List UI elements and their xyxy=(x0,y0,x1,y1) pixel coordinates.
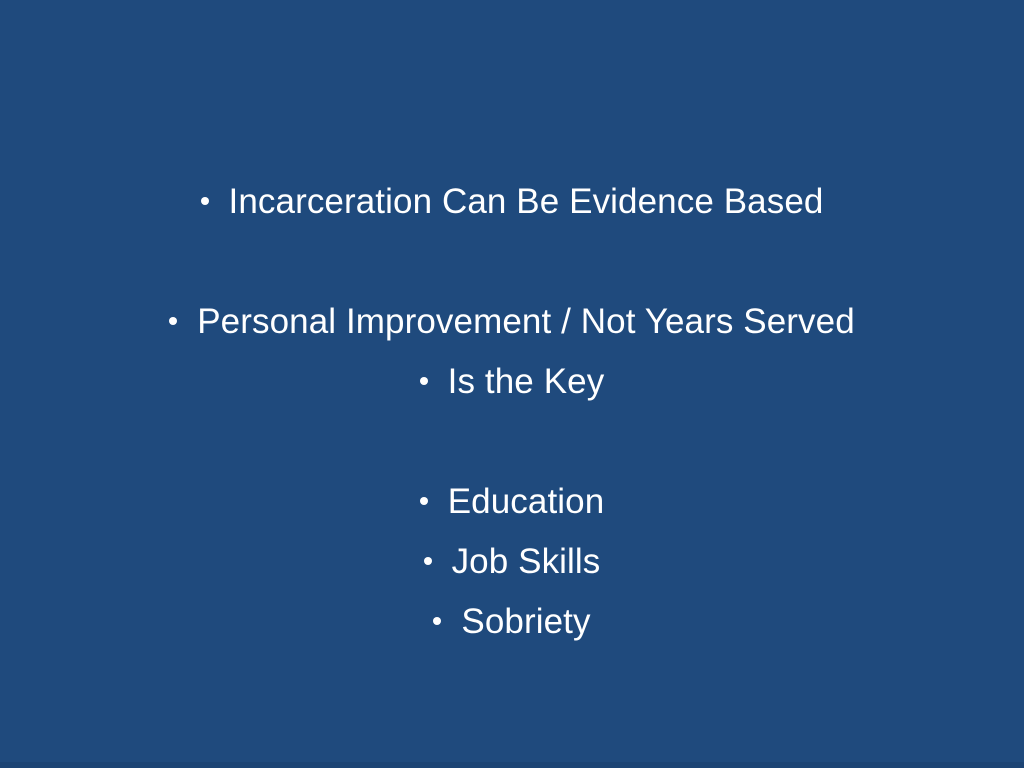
list-item: Sobriety xyxy=(0,592,1024,652)
list-item: Personal Improvement / Not Years Served xyxy=(0,292,1024,352)
bullet-text: Sobriety xyxy=(461,602,590,641)
list-item: Job Skills xyxy=(0,532,1024,592)
bullet-point-icon xyxy=(424,557,432,565)
bullet-text: Job Skills xyxy=(452,542,601,581)
bullet-text: Education xyxy=(448,482,605,521)
presentation-slide: Incarceration Can Be Evidence Based Pers… xyxy=(0,0,1024,768)
bullet-text: Is the Key xyxy=(448,362,605,401)
slide-body-content: Incarceration Can Be Evidence Based Pers… xyxy=(0,172,1024,652)
bullet-point-icon xyxy=(169,317,177,325)
list-item: Is the Key xyxy=(0,352,1024,412)
blank-line-spacer xyxy=(0,412,1024,472)
bullet-point-icon xyxy=(420,377,428,385)
bullet-text: Personal Improvement / Not Years Served xyxy=(197,302,855,341)
bullet-point-icon xyxy=(201,197,209,205)
blank-line-spacer xyxy=(0,232,1024,292)
slide-bottom-edge xyxy=(0,762,1024,768)
list-item: Incarceration Can Be Evidence Based xyxy=(0,172,1024,232)
bullet-point-icon xyxy=(433,617,441,625)
list-item: Education xyxy=(0,472,1024,532)
bullet-text: Incarceration Can Be Evidence Based xyxy=(229,182,824,221)
bullet-point-icon xyxy=(420,497,428,505)
